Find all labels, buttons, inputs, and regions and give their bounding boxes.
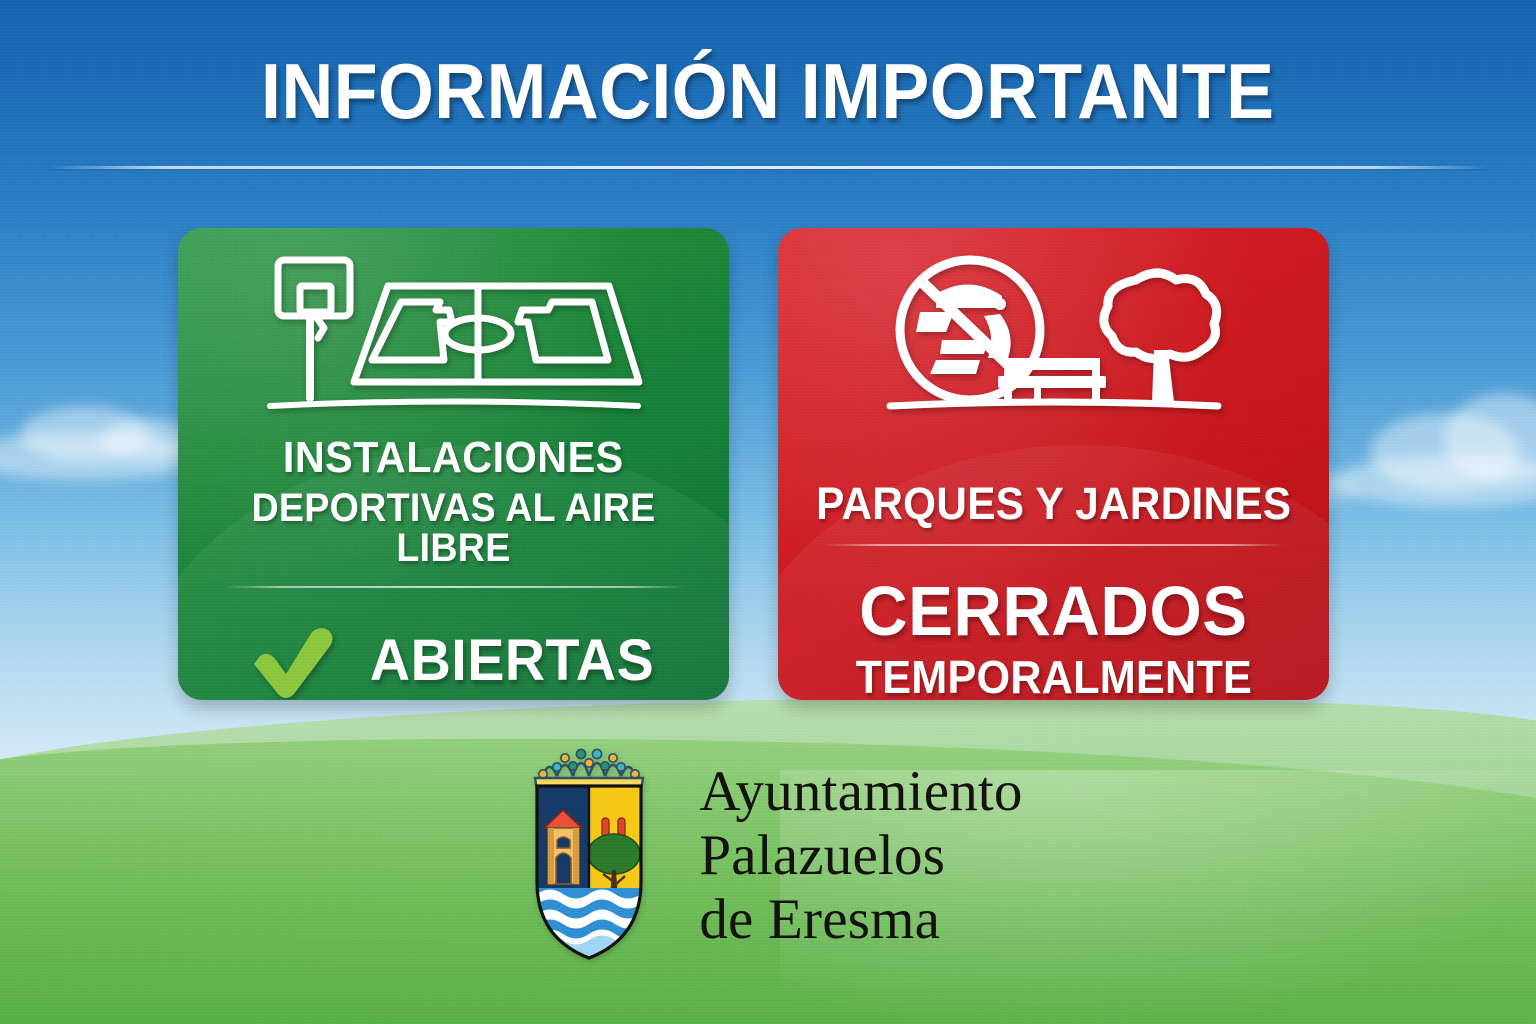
parks-status-sublabel: TEMPORALMENTE	[855, 654, 1251, 700]
title-block: INFORMACIÓN IMPORTANTE	[0, 52, 1536, 130]
parks-heading-line1: PARQUES Y JARDINES	[816, 481, 1291, 526]
sports-card-divider	[224, 586, 684, 588]
parks-icon-wrap	[884, 250, 1224, 427]
page-title: INFORMACIÓN IMPORTANTE	[261, 52, 1274, 130]
sports-status-label: ABIERTAS	[370, 632, 654, 690]
parks-card-divider	[824, 544, 1284, 546]
municipality-line2: Palazuelos	[699, 824, 1022, 888]
no-playground-park-prohibited-icon	[884, 254, 1224, 424]
sports-court-icon-wrap	[264, 250, 644, 420]
status-card-parks-gardens[interactable]: PARQUES Y JARDINES CERRADOS TEMPORALMENT…	[778, 228, 1329, 700]
sports-status-row: ABIERTAS	[246, 622, 660, 700]
parks-status-label: CERRADOS	[859, 576, 1247, 646]
municipality-line3: de Eresma	[699, 888, 1022, 952]
cloud-shape-right	[1334, 455, 1536, 507]
outdoor-sports-court-icon	[264, 250, 644, 420]
poster-canvas: INFORMACIÓN IMPORTANTE	[0, 0, 1536, 1024]
sports-heading-line1: INSTALACIONES	[283, 436, 624, 480]
water-waves-shape	[537, 888, 641, 968]
municipality-name: Ayuntamiento Palazuelos de Eresma	[699, 760, 1022, 951]
municipality-line1: Ayuntamiento	[699, 760, 1022, 824]
status-card-sports-facilities[interactable]: INSTALACIONES DEPORTIVAS AL AIRE LIBRE A…	[178, 228, 729, 700]
tree-shape	[1103, 273, 1216, 402]
coat-of-arms-palazuelos-de-eresma	[513, 742, 665, 970]
check-mark-icon	[246, 622, 338, 700]
title-divider	[48, 166, 1488, 169]
footer-branding: Ayuntamiento Palazuelos de Eresma	[0, 742, 1536, 970]
sports-heading-line2: DEPORTIVAS AL AIRE LIBRE	[195, 488, 713, 568]
